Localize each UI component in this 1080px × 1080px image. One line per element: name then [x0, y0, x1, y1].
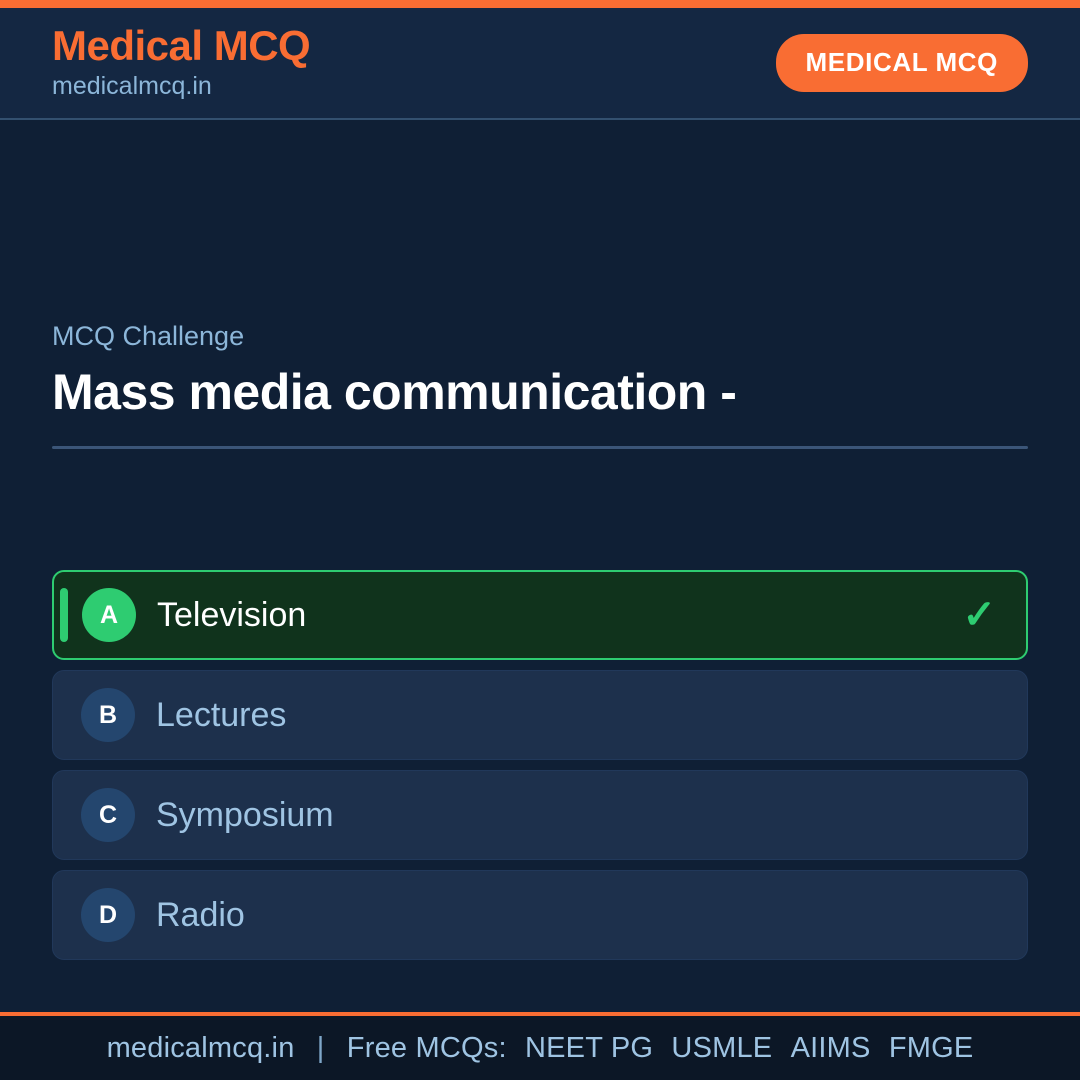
option-c-letter: C: [81, 788, 135, 842]
option-c-label: Symposium: [156, 798, 334, 832]
footer-exam-neetpg: NEET PG: [515, 1032, 653, 1064]
footer-text: medicalmcq.in | Free MCQs: NEET PG USMLE…: [107, 1032, 974, 1065]
option-b[interactable]: B Lectures: [52, 670, 1028, 760]
question-divider: [52, 446, 1028, 449]
option-c[interactable]: C Symposium: [52, 770, 1028, 860]
footer-separator: |: [303, 1032, 339, 1064]
footer-tagline: Free MCQs:: [347, 1032, 507, 1064]
options-list: A Television ✓ B Lectures C Symposium D …: [52, 570, 1028, 970]
page-header: Medical MCQ medicalmcq.in MEDICAL MCQ: [0, 8, 1080, 120]
footer-site: medicalmcq.in: [107, 1032, 295, 1064]
footer-exam-fmge: FMGE: [879, 1032, 974, 1064]
header-badge: MEDICAL MCQ: [776, 34, 1028, 92]
option-a-letter: A: [82, 588, 136, 642]
option-a-label: Television: [157, 598, 306, 632]
check-icon: ✓: [962, 595, 996, 635]
option-d[interactable]: D Radio: [52, 870, 1028, 960]
correct-accent-bar: [60, 588, 68, 642]
top-accent-bar: [0, 0, 1080, 8]
brand-subtitle: medicalmcq.in: [52, 71, 310, 102]
brand-title: Medical MCQ: [52, 24, 310, 69]
footer-exam-aiims: AIIMS: [781, 1032, 871, 1064]
option-b-letter: B: [81, 688, 135, 742]
brand: Medical MCQ medicalmcq.in: [52, 24, 310, 102]
question-text: Mass media communication -: [52, 364, 1028, 420]
option-d-label: Radio: [156, 898, 245, 932]
option-b-label: Lectures: [156, 698, 286, 732]
mcq-card: Medical MCQ medicalmcq.in MEDICAL MCQ MC…: [0, 0, 1080, 1080]
option-d-letter: D: [81, 888, 135, 942]
option-a[interactable]: A Television ✓: [52, 570, 1028, 660]
question-block: MCQ Challenge Mass media communication -: [52, 322, 1028, 449]
footer-exam-usmle: USMLE: [661, 1032, 772, 1064]
main-content: MCQ Challenge Mass media communication -…: [0, 120, 1080, 1012]
question-eyebrow: MCQ Challenge: [52, 322, 1028, 352]
page-footer: medicalmcq.in | Free MCQs: NEET PG USMLE…: [0, 1012, 1080, 1080]
